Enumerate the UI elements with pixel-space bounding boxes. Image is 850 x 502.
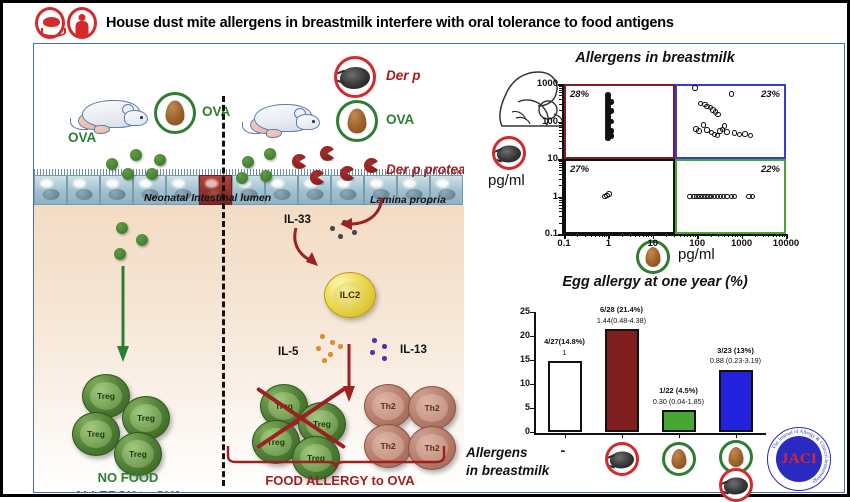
quadrant-percent: 28% bbox=[570, 89, 589, 100]
y-minor-tick bbox=[559, 167, 562, 168]
scatter-title: Allergens in breastmilk bbox=[464, 50, 846, 66]
treg-cell: Treg bbox=[72, 412, 120, 456]
x-minor-tick bbox=[680, 234, 681, 237]
x-tick-label: 100 bbox=[683, 238, 711, 249]
quadrant-percent: 22% bbox=[761, 164, 780, 175]
x-minor-tick bbox=[646, 234, 647, 237]
y-tick-label: 1 bbox=[524, 191, 558, 202]
mouse-illustration-right bbox=[246, 100, 322, 140]
x-tick-label: 1000 bbox=[728, 238, 756, 249]
y-minor-tick bbox=[559, 86, 562, 87]
jaci-logo: The Journal of Allergy & Clinical Immuno… bbox=[767, 427, 831, 491]
scatter-point bbox=[742, 131, 748, 137]
scatter-point bbox=[722, 123, 728, 129]
outcome-no-allergy: NO FOOD ALLERGY to OVA bbox=[48, 469, 208, 492]
figure-title-bar: House dust mite allergens in breastmilk … bbox=[3, 3, 847, 43]
il33-label: IL-33 bbox=[284, 214, 311, 226]
y-minor-tick bbox=[559, 136, 562, 137]
y-minor-tick bbox=[559, 179, 562, 180]
y-minor-tick bbox=[559, 88, 562, 89]
y-tick-mark bbox=[558, 234, 563, 236]
x-minor-tick bbox=[604, 234, 605, 237]
bar-xlabel: Allergens in breastmilk bbox=[466, 444, 549, 479]
th2-cell: Th2 bbox=[364, 384, 412, 428]
x-minor-tick bbox=[648, 234, 649, 237]
epithelial-cell bbox=[67, 175, 100, 205]
th2-cell: Th2 bbox=[408, 386, 456, 430]
y-minor-tick bbox=[559, 170, 562, 171]
x-minor-tick bbox=[728, 234, 729, 237]
y-tick-label: 0.1 bbox=[524, 228, 558, 239]
x-tick-mark bbox=[786, 234, 788, 239]
y-minor-tick bbox=[559, 104, 562, 105]
ova-particle bbox=[106, 158, 118, 170]
figure-root: House dust mite allergens in breastmilk … bbox=[0, 0, 850, 497]
bar-y-tick-label: 0 bbox=[508, 426, 530, 436]
derp-label: Der p bbox=[386, 68, 421, 83]
ova-particle bbox=[130, 149, 142, 161]
scatter-quadrant-bottom-left: 27% bbox=[564, 159, 675, 234]
epithelial-cell bbox=[34, 175, 67, 205]
bar-y-tick-mark bbox=[530, 408, 535, 409]
ova-particle bbox=[116, 222, 128, 234]
x-minor-tick bbox=[768, 234, 769, 237]
y-minor-tick bbox=[559, 216, 562, 217]
y-minor-tick bbox=[559, 125, 562, 126]
il5-particle bbox=[328, 352, 333, 357]
x-tick-mark bbox=[742, 234, 744, 239]
x-minor-tick bbox=[763, 234, 764, 237]
y-minor-tick bbox=[559, 200, 562, 201]
ova-particle bbox=[146, 168, 158, 180]
ilc2-cell: ILC2 bbox=[324, 272, 376, 318]
y-minor-tick bbox=[559, 95, 562, 96]
bar-x-tick bbox=[622, 433, 623, 438]
il13-particle bbox=[382, 344, 387, 349]
bar-y-tick-mark bbox=[530, 336, 535, 337]
x-minor-tick bbox=[732, 234, 733, 237]
y-minor-tick bbox=[559, 99, 562, 100]
outcome-food-allergy: FOOD ALLERGY to OVA bbox=[230, 472, 450, 490]
protease-label: Der p proteases bbox=[386, 162, 464, 177]
x-tick-label: 0.1 bbox=[550, 238, 578, 249]
x-minor-tick bbox=[773, 234, 774, 237]
bar-title: Egg allergy at one year (%) bbox=[464, 274, 846, 290]
ova-icon-right bbox=[336, 100, 378, 142]
y-minor-tick bbox=[559, 163, 562, 164]
bar-y-tick-mark bbox=[530, 384, 535, 385]
y-minor-tick bbox=[559, 148, 562, 149]
x-minor-tick bbox=[735, 234, 736, 237]
y-minor-tick bbox=[559, 92, 562, 93]
il13-particle bbox=[370, 350, 375, 355]
x-minor-tick bbox=[695, 234, 696, 237]
ova-particle bbox=[114, 248, 126, 260]
x-minor-tick bbox=[602, 234, 603, 237]
scatter-point bbox=[724, 129, 730, 135]
ova-particle bbox=[260, 170, 272, 182]
x-tick-mark bbox=[608, 234, 610, 239]
x-minor-tick bbox=[782, 234, 783, 237]
bar-x-axis bbox=[534, 433, 766, 435]
il5-label: IL-5 bbox=[278, 346, 298, 358]
x-minor-tick bbox=[784, 234, 785, 237]
category-none: - bbox=[561, 442, 566, 458]
x-tick-label: 1 bbox=[594, 238, 622, 249]
ova-particle bbox=[154, 154, 166, 166]
th2-induction-arrow bbox=[338, 344, 360, 406]
bar bbox=[548, 361, 582, 432]
x-minor-tick bbox=[591, 234, 592, 237]
x-minor-tick bbox=[690, 234, 691, 237]
il13-particle bbox=[372, 338, 377, 343]
bar-y-tick-label: 10 bbox=[508, 378, 530, 388]
x-minor-tick bbox=[666, 234, 667, 237]
ova-label-left: OVA bbox=[202, 104, 230, 119]
y-minor-tick bbox=[559, 185, 562, 186]
x-tick-mark bbox=[653, 234, 655, 239]
page-title: House dust mite allergens in breastmilk … bbox=[106, 15, 674, 31]
ova-source-label-left: OVA bbox=[68, 130, 96, 145]
x-minor-tick bbox=[595, 234, 596, 237]
x-minor-tick bbox=[651, 234, 652, 237]
x-minor-tick bbox=[737, 234, 738, 237]
bar-x-tick bbox=[565, 433, 566, 438]
y-minor-tick bbox=[559, 127, 562, 128]
x-minor-tick bbox=[630, 234, 631, 237]
x-minor-tick bbox=[585, 234, 586, 237]
scatter-quadrant-top-left: 28% bbox=[564, 84, 675, 159]
y-minor-tick bbox=[559, 90, 562, 91]
x-minor-tick bbox=[779, 234, 780, 237]
y-tick-label: 100 bbox=[524, 116, 558, 127]
scatter-point bbox=[729, 91, 735, 97]
quadrant-percent: 27% bbox=[570, 164, 589, 175]
x-minor-tick bbox=[639, 234, 640, 237]
bar-y-tick-label: 15 bbox=[508, 354, 530, 364]
y-minor-tick bbox=[559, 211, 562, 212]
x-tick-mark bbox=[564, 234, 566, 239]
ova-particle bbox=[242, 156, 254, 168]
il33-release-arrow bbox=[326, 194, 386, 232]
lumen-label: Neonatal Intestinal lumen bbox=[144, 192, 271, 204]
bar-annotation: 3/23 (13%)0.88 (0.23-3.19) bbox=[684, 346, 788, 367]
x-minor-tick bbox=[635, 234, 636, 237]
bar-y-tick-mark bbox=[530, 360, 535, 361]
ova-icon-left bbox=[154, 92, 196, 134]
ova-particle bbox=[122, 168, 134, 180]
il5-particle bbox=[320, 334, 325, 339]
y-minor-tick bbox=[559, 202, 562, 203]
bar-y-tick-label: 20 bbox=[508, 330, 530, 340]
scatter-point bbox=[609, 108, 615, 114]
bar bbox=[662, 410, 696, 432]
person-icon bbox=[67, 7, 97, 39]
il13-label: IL-13 bbox=[400, 344, 427, 356]
bar-y-tick-mark bbox=[530, 432, 535, 433]
ova-particle bbox=[264, 148, 276, 160]
y-minor-tick bbox=[559, 208, 562, 209]
quadrant-percent: 23% bbox=[761, 89, 780, 100]
y-tick-label: 1000 bbox=[524, 78, 558, 89]
x-minor-tick bbox=[599, 234, 600, 237]
x-minor-tick bbox=[755, 234, 756, 237]
ova-label-right: OVA bbox=[386, 112, 414, 127]
x-minor-tick bbox=[776, 234, 777, 237]
bar-x-tick bbox=[736, 433, 737, 438]
y-tick-label: 10 bbox=[524, 153, 558, 164]
scatter-plot-area: 28% 23% 27% 22% bbox=[564, 84, 786, 234]
x-minor-tick bbox=[724, 234, 725, 237]
il5-particle bbox=[322, 358, 327, 363]
il5-particle bbox=[316, 346, 321, 351]
y-minor-tick bbox=[559, 161, 562, 162]
bar-y-tick-mark bbox=[530, 312, 535, 313]
scatter-point bbox=[606, 191, 612, 197]
y-minor-tick bbox=[559, 130, 562, 131]
x-tick-label: 10 bbox=[639, 238, 667, 249]
jaci-logo-text: JACI bbox=[781, 451, 817, 468]
x-minor-tick bbox=[718, 234, 719, 237]
x-minor-tick bbox=[674, 234, 675, 237]
y-minor-tick bbox=[559, 110, 562, 111]
y-minor-tick bbox=[559, 198, 562, 199]
figure-panel: /*cells injected*/ OVA OVA Neonatal Inte… bbox=[33, 43, 845, 493]
y-minor-tick bbox=[559, 141, 562, 142]
x-minor-tick bbox=[711, 234, 712, 237]
il33-to-ilc2-arrow bbox=[290, 226, 326, 272]
bar-annotation: 6/28 (21.4%)1.44(0.48-4.38) bbox=[570, 305, 674, 326]
ova-particle bbox=[136, 234, 148, 246]
scatter-point bbox=[609, 99, 615, 105]
mechanism-diagram: /*cells injected*/ OVA OVA Neonatal Inte… bbox=[34, 44, 464, 492]
data-panels: Allergens in breastmilk pg/ml bbox=[464, 44, 846, 492]
bar-y-tick-label: 25 bbox=[508, 306, 530, 316]
derp-mite-icon bbox=[334, 56, 376, 98]
x-minor-tick bbox=[684, 234, 685, 237]
y-minor-tick bbox=[559, 133, 562, 134]
scatter-panel: Allergens in breastmilk pg/ml bbox=[464, 44, 846, 274]
bar-x-tick bbox=[679, 433, 680, 438]
il33-particle bbox=[338, 234, 343, 239]
y-minor-tick bbox=[559, 165, 562, 166]
x-minor-tick bbox=[643, 234, 644, 237]
il5-particle bbox=[330, 340, 335, 345]
x-minor-tick bbox=[606, 234, 607, 237]
tolerance-arrow bbox=[112, 266, 134, 366]
scatter-point bbox=[692, 85, 698, 91]
bar-y-tick-label: 5 bbox=[508, 402, 530, 412]
breastfeeding-icon bbox=[35, 7, 65, 39]
scatter-y-mite-icon bbox=[492, 136, 526, 170]
category-egg-icon bbox=[662, 442, 696, 476]
y-minor-tick bbox=[559, 123, 562, 124]
x-minor-tick bbox=[622, 234, 623, 237]
panel-divider bbox=[222, 96, 225, 486]
x-minor-tick bbox=[693, 234, 694, 237]
x-minor-tick bbox=[687, 234, 688, 237]
il13-particle bbox=[382, 356, 387, 361]
y-minor-tick bbox=[559, 205, 562, 206]
x-minor-tick bbox=[577, 234, 578, 237]
category-mite-icon bbox=[605, 442, 639, 476]
bar-annotation: 1/22 (4.5%)0.30 (0.04-1.85) bbox=[627, 386, 731, 407]
x-tick-label: 10000 bbox=[772, 238, 800, 249]
scatter-point bbox=[696, 128, 702, 134]
x-tick-mark bbox=[697, 234, 699, 239]
y-minor-tick bbox=[559, 223, 562, 224]
ova-particle bbox=[236, 172, 248, 184]
y-minor-tick bbox=[559, 174, 562, 175]
scatter-ylabel: pg/ml bbox=[488, 172, 525, 189]
x-minor-tick bbox=[740, 234, 741, 237]
bar-plot-area bbox=[536, 312, 764, 432]
